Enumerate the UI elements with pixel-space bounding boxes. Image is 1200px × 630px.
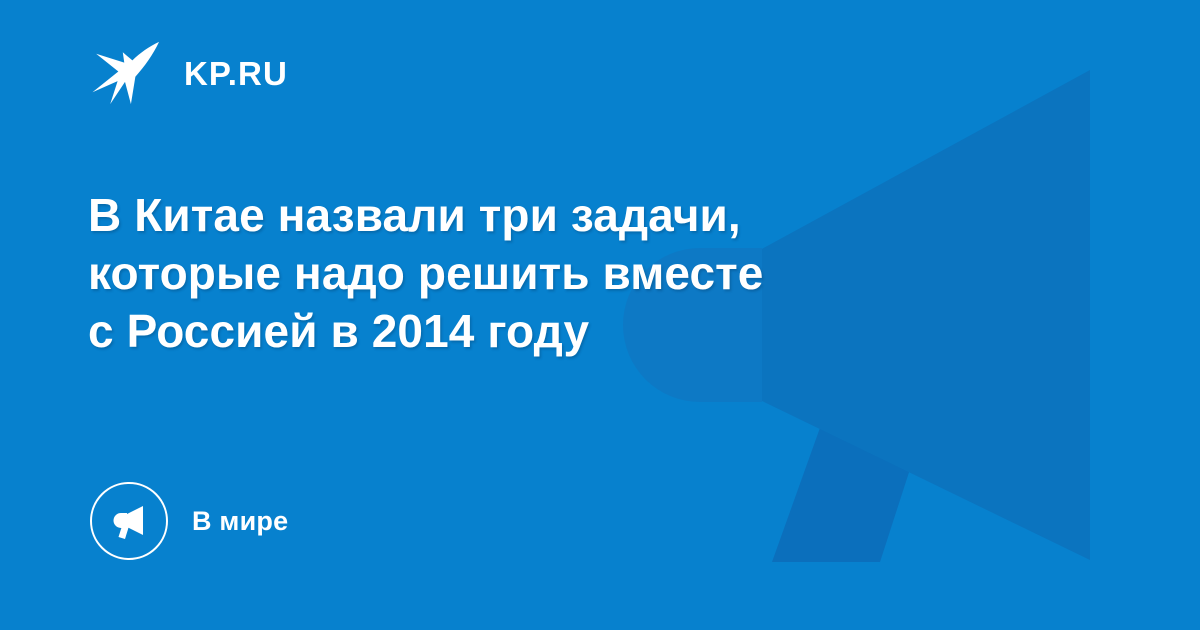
share-card: KP.RU В Китае назвали три задачи, которы… (0, 0, 1200, 630)
headline-line-1: В Китае назвали три задачи, (88, 186, 988, 244)
megaphone-glyph (107, 499, 151, 543)
megaphone-icon (90, 482, 168, 560)
headline-line-2: которые надо решить вместе (88, 244, 988, 302)
category-badge[interactable]: В мире (90, 482, 288, 560)
brand-wordmark: KP.RU (184, 57, 288, 90)
site-header: KP.RU (88, 36, 288, 110)
swallow-bird-icon (88, 36, 162, 110)
category-label: В мире (192, 508, 288, 535)
page-title: В Китае назвали три задачи, которые надо… (88, 186, 988, 360)
headline-line-3: с Россией в 2014 году (88, 302, 988, 360)
